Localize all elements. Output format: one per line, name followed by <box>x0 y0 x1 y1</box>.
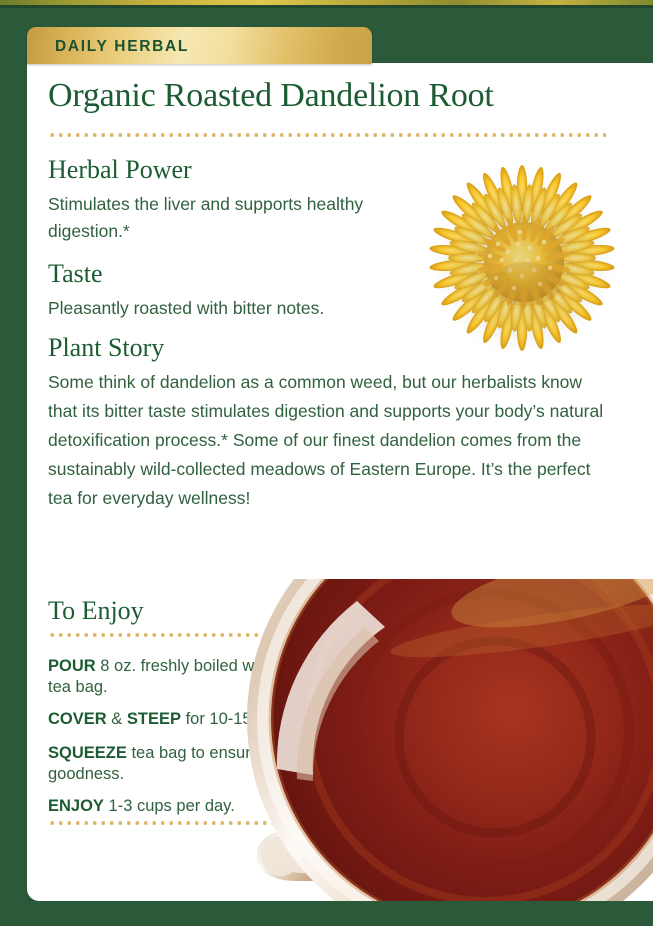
bottom-green-band <box>0 901 653 926</box>
dandelion-flower-image <box>427 163 617 353</box>
daily-herbal-label: DAILY HERBAL <box>55 38 189 56</box>
brew-keyword-steep: STEEP <box>127 710 181 728</box>
teacup-image <box>239 579 653 901</box>
brew-conjunction: & <box>107 710 127 728</box>
top-strip-shadow <box>0 5 653 8</box>
tea-box-panel: DAILY HERBAL <box>0 0 653 926</box>
section-heading-to-enjoy: To Enjoy <box>48 596 144 626</box>
section-body-taste: Pleasantly roasted with bitter notes. <box>48 295 448 322</box>
section-heading-plant-story: Plant Story <box>48 333 164 363</box>
divider-title <box>48 133 606 137</box>
brew-keyword-cover: COVER <box>48 710 107 728</box>
daily-herbal-banner: DAILY HERBAL <box>27 27 372 64</box>
flower-shadow <box>435 177 610 349</box>
section-heading-herbal-power: Herbal Power <box>48 155 192 185</box>
brew-keyword-squeeze: SQUEEZE <box>48 744 127 762</box>
section-body-herbal-power: Stimulates the liver and supports health… <box>48 191 408 245</box>
brew-text-enjoy: 1-3 cups per day. <box>104 797 235 815</box>
section-body-plant-story: Some think of dandelion as a common weed… <box>48 368 608 513</box>
brew-keyword-pour: POUR <box>48 657 96 675</box>
section-heading-taste: Taste <box>48 259 103 289</box>
content-card: Organic Roasted Dandelion Root <box>27 63 653 901</box>
page-title: Organic Roasted Dandelion Root <box>48 77 494 115</box>
brew-keyword-enjoy: ENJOY <box>48 797 104 815</box>
